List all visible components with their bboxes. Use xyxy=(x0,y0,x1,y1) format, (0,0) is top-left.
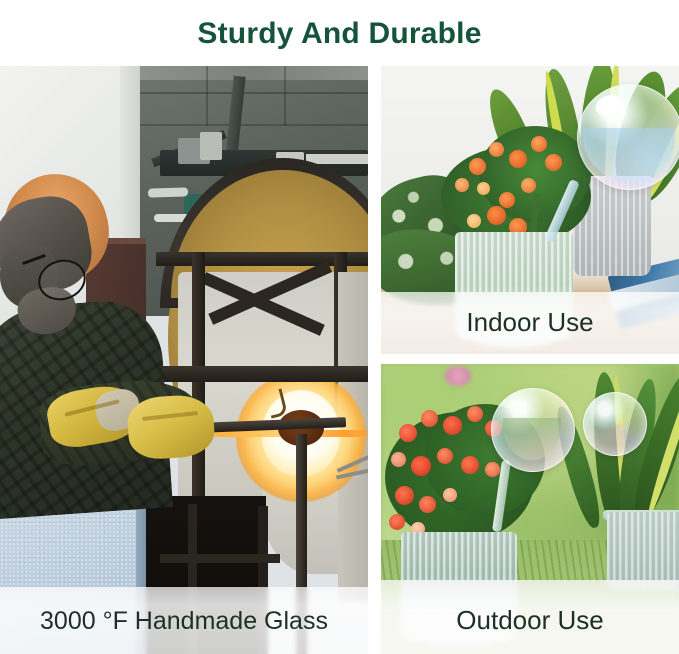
white-pipe xyxy=(148,187,188,197)
grey-ribbed-planter xyxy=(607,512,679,590)
kalanchoe-flower xyxy=(411,456,431,476)
kalanchoe-flower xyxy=(461,456,479,474)
panel-glass-furnace: 3000 °F Handmade Glass xyxy=(0,66,368,654)
kalanchoe-flower xyxy=(399,424,417,442)
kalanchoe-flower xyxy=(509,150,527,168)
block-mortar-joint xyxy=(206,66,208,126)
furnace-stand-crossbar xyxy=(160,554,280,563)
shelf-box xyxy=(200,132,222,160)
kalanchoe-flower xyxy=(395,486,414,505)
kalanchoe-flower xyxy=(421,410,438,427)
kalanchoe-flower xyxy=(531,136,547,152)
block-mortar-joint xyxy=(284,66,286,126)
kalanchoe-flower xyxy=(489,142,504,157)
glassblowing-photo xyxy=(0,66,368,654)
kalanchoe-flower xyxy=(443,416,462,435)
kalanchoe-flower xyxy=(521,178,536,193)
kalanchoe-flower xyxy=(477,182,490,195)
kalanchoe-flower xyxy=(467,406,483,422)
kalanchoe-flower xyxy=(391,452,406,467)
cinder-block-row xyxy=(140,66,368,80)
caption-bar-glass: 3000 °F Handmade Glass xyxy=(0,587,368,654)
kalanchoe-flower xyxy=(437,448,453,464)
header: Sturdy And Durable xyxy=(0,0,679,66)
kalanchoe-flower xyxy=(499,192,515,208)
furnace-steel-beam xyxy=(156,366,368,382)
kalanchoe-flower xyxy=(485,462,500,477)
background-blossom xyxy=(445,366,471,386)
kalanchoe-flower xyxy=(487,206,506,225)
caption-text-indoor: Indoor Use xyxy=(466,309,593,335)
caption-bar-indoor: Indoor Use xyxy=(381,292,679,354)
kalanchoe-flower xyxy=(389,514,405,530)
kalanchoe-flower xyxy=(531,208,544,221)
block-mortar-line xyxy=(140,124,368,126)
furnace-frame-column xyxy=(192,252,205,532)
caption-bar-outdoor: Outdoor Use xyxy=(381,580,679,654)
page-title: Sturdy And Durable xyxy=(197,19,481,49)
kalanchoe-flower xyxy=(419,496,436,513)
block-mortar-line xyxy=(140,92,368,94)
kalanchoe-flower xyxy=(469,158,486,175)
panel-outdoor-use: Outdoor Use xyxy=(381,364,679,654)
glass-watering-globe-small xyxy=(583,392,647,456)
panel-grid: 3000 °F Handmade Glass xyxy=(0,66,679,654)
caption-text-outdoor: Outdoor Use xyxy=(456,607,603,633)
kalanchoe-flower xyxy=(467,214,481,228)
kalanchoe-flower xyxy=(443,488,457,502)
kalanchoe-flower xyxy=(545,154,562,171)
caption-text-glass: 3000 °F Handmade Glass xyxy=(40,609,328,634)
panel-indoor-use: Indoor Use xyxy=(381,66,679,354)
kalanchoe-flower xyxy=(455,178,469,192)
